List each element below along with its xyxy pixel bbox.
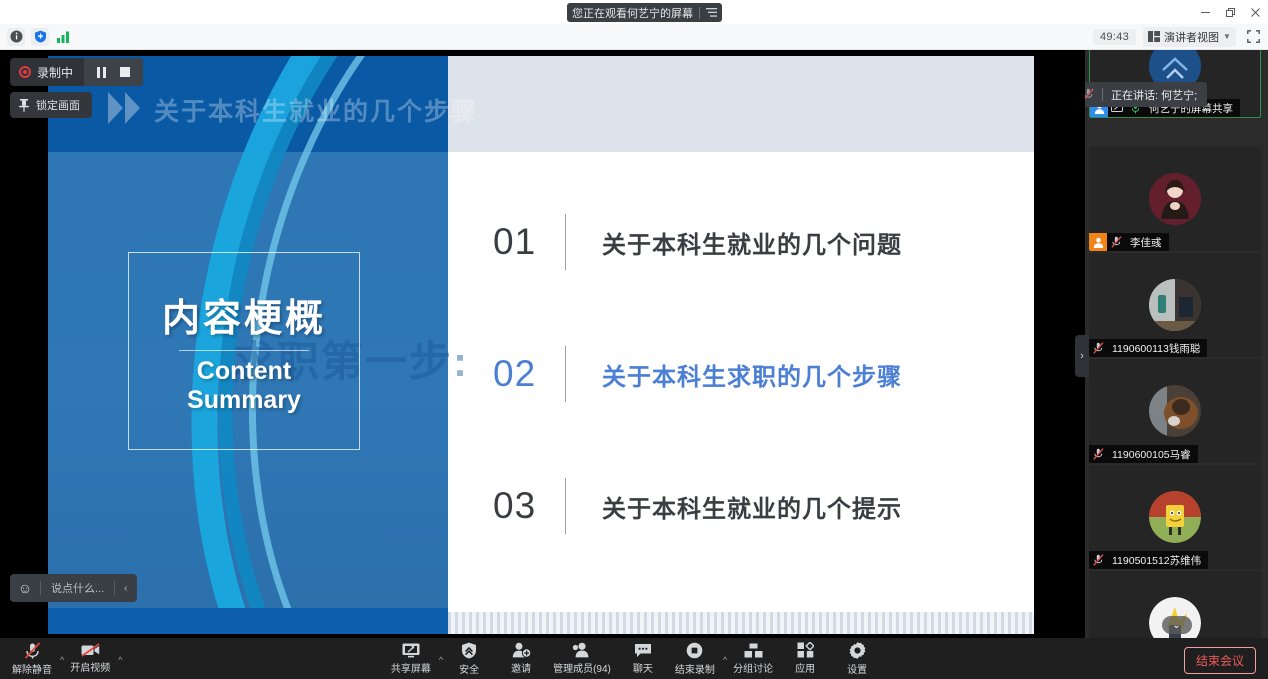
shared-screen-stage: 关于本科生就业的几个步骤 求职第一步: 内容梗概 Content Summary… xyxy=(0,50,1085,638)
agenda-divider xyxy=(565,346,566,402)
slide-bottom-band xyxy=(48,608,448,634)
mic-off-icon xyxy=(1089,551,1107,569)
toast-divider xyxy=(1102,88,1103,101)
share-screen-button[interactable]: 共享屏幕 xyxy=(385,638,437,679)
notice-menu-icon[interactable] xyxy=(706,8,717,17)
agenda-item: 03 关于本科生就业的几个提示 xyxy=(493,440,1013,572)
content-summary-en-2: Summary xyxy=(187,386,301,416)
record-label: 结束录制 xyxy=(675,661,715,676)
chevron-down-icon: ▼ xyxy=(1223,32,1231,41)
recording-buttons xyxy=(84,58,143,86)
slide-header-title: 关于本科生就业的几个步骤 xyxy=(154,92,478,128)
meeting-toolbar: 解除静音 ^ 开启视频 ^ 共享屏幕 ^ xyxy=(0,638,1268,679)
apps-icon xyxy=(797,642,814,658)
stop-recording-button[interactable]: 结束录制 xyxy=(669,638,721,679)
agenda-text: 关于本科生就业的几个提示 xyxy=(602,489,902,524)
signal-bars-icon[interactable] xyxy=(55,28,73,46)
participant-nametag: 1190501512苏维伟 xyxy=(1089,551,1208,569)
person-icon xyxy=(1089,233,1107,251)
view-mode-dropdown[interactable]: 演讲者视图 ▼ xyxy=(1143,27,1236,47)
avatar xyxy=(1149,173,1201,225)
security-label: 安全 xyxy=(459,661,479,676)
participant-nametag: 李佳彧 xyxy=(1089,233,1169,251)
chevron-decoration xyxy=(108,92,140,124)
close-button[interactable] xyxy=(1243,0,1268,24)
info-icon[interactable] xyxy=(7,28,25,46)
chat-bubble-icon xyxy=(634,643,652,658)
chat-collapse-icon[interactable]: ‹ xyxy=(115,583,136,594)
participant-name: 1190600105马睿 xyxy=(1107,447,1191,462)
participant-name: 1190600113钱雨聪 xyxy=(1107,341,1200,356)
record-stop-icon xyxy=(686,642,703,659)
mic-off-icon xyxy=(1089,339,1107,357)
recording-label: 录制中 xyxy=(37,64,73,81)
slide-bottom-stripes xyxy=(448,612,1034,634)
security-shield-icon xyxy=(461,642,477,659)
stop-icon[interactable] xyxy=(120,67,130,77)
content-summary-rule xyxy=(179,350,309,351)
invite-person-icon xyxy=(512,642,531,658)
apps-label: 应用 xyxy=(795,660,815,675)
participants-label: 管理成员(94) xyxy=(553,660,611,675)
scroll-down-icon[interactable]: ⌄ xyxy=(1162,616,1192,634)
participant-tile[interactable]: 李佳彧 xyxy=(1089,147,1261,251)
agenda-divider xyxy=(565,214,566,270)
agenda-text: 关于本科生求职的几个步骤 xyxy=(602,357,902,392)
participant-tile[interactable]: 1190600105马睿 xyxy=(1089,359,1261,463)
content-summary-en-1: Content xyxy=(197,357,291,387)
invite-label: 邀请 xyxy=(511,660,531,675)
manage-participants-button[interactable]: 管理成员(94) xyxy=(547,638,617,679)
record-dot-icon xyxy=(19,66,31,78)
speaking-toast: 正在讲话: 何艺宁; xyxy=(1085,82,1207,107)
share-screen-icon xyxy=(402,643,420,658)
content-summary-cn: 内容梗概 xyxy=(162,287,326,342)
participants-panel: 何艺宁的屏幕共享 正在讲话: 何艺宁; xyxy=(1085,50,1268,638)
participant-tile[interactable]: 1190501512苏维伟 xyxy=(1089,465,1261,569)
collapse-panel-button[interactable]: › xyxy=(1075,335,1089,377)
chat-label: 聊天 xyxy=(633,660,653,675)
speaking-label: 正在讲话: 何艺宁; xyxy=(1111,87,1197,103)
viewing-screen-notice: 您正在观看何艺宁的屏幕 xyxy=(567,3,722,22)
participant-strip[interactable]: 何艺宁的屏幕共享 正在讲话: 何艺宁; xyxy=(1085,50,1268,638)
emoji-icon[interactable]: ☺ xyxy=(10,580,40,596)
pin-screen-button[interactable]: 锁定画面 xyxy=(10,92,92,118)
settings-button[interactable]: 设置 xyxy=(831,638,883,679)
pause-icon[interactable] xyxy=(97,67,106,78)
avatar xyxy=(1149,385,1201,437)
recording-bar: 录制中 xyxy=(10,58,143,86)
agenda-text: 关于本科生就业的几个问题 xyxy=(602,225,902,260)
participant-nametag: 1190600113钱雨聪 xyxy=(1089,339,1207,357)
participant-nametag: 1190600105马睿 xyxy=(1089,445,1198,463)
end-meeting-button[interactable]: 结束会议 xyxy=(1184,647,1256,674)
gear-icon xyxy=(849,642,866,659)
pin-label: 锁定画面 xyxy=(36,97,80,113)
breakout-label: 分组讨论 xyxy=(733,660,773,675)
share-screen-label: 共享屏幕 xyxy=(391,660,431,675)
quick-chat-input[interactable]: ☺ 说点什么... ‹ xyxy=(10,574,137,602)
agenda-divider xyxy=(565,478,566,534)
settings-label: 设置 xyxy=(847,661,867,676)
apps-button[interactable]: 应用 xyxy=(779,638,831,679)
presentation-slide: 关于本科生就业的几个步骤 求职第一步: 内容梗概 Content Summary… xyxy=(48,56,1034,634)
content-summary-box: 内容梗概 Content Summary xyxy=(128,252,360,450)
panel-top-controls: 49:43 演讲者视图 ▼ xyxy=(1085,24,1268,50)
window-controls xyxy=(1193,0,1268,24)
chat-placeholder[interactable]: 说点什么... xyxy=(41,580,114,596)
participant-name: 1190501512苏维伟 xyxy=(1107,553,1201,568)
pin-icon xyxy=(19,99,29,112)
avatar xyxy=(1149,279,1201,331)
agenda-list: 01 关于本科生就业的几个问题 02 关于本科生求职的几个步骤 03 关于本科生… xyxy=(493,176,1013,572)
meeting-window: 您正在观看何艺宁的屏幕 xyxy=(0,0,1268,679)
mic-off-icon xyxy=(1089,445,1107,463)
restore-button[interactable] xyxy=(1218,0,1243,24)
agenda-number: 02 xyxy=(493,353,565,395)
agenda-item: 02 关于本科生求职的几个步骤 xyxy=(493,308,1013,440)
share-sub-toolbar xyxy=(0,24,1085,50)
meeting-timer: 49:43 xyxy=(1093,29,1136,45)
security-button[interactable]: 安全 xyxy=(443,638,495,679)
mic-muted-icon xyxy=(1085,88,1094,101)
mic-off-icon xyxy=(1107,233,1125,251)
participant-tile[interactable]: 1190600113钱雨聪 xyxy=(1089,253,1261,357)
agenda-item: 01 关于本科生就业的几个问题 xyxy=(493,176,1013,308)
agenda-number: 03 xyxy=(493,485,565,527)
breakout-rooms-icon xyxy=(744,643,763,658)
shield-icon[interactable] xyxy=(31,28,49,46)
agenda-number: 01 xyxy=(493,221,565,263)
avatar xyxy=(1149,491,1201,543)
toolbar-center-group: 共享屏幕 ^ 安全 邀请 管理成员(94) xyxy=(0,638,1268,679)
participants-icon xyxy=(572,642,591,658)
chat-button[interactable]: 聊天 xyxy=(617,638,669,679)
viewing-notice-label: 您正在观看何艺宁的屏幕 xyxy=(572,5,693,21)
notice-divider xyxy=(699,7,700,19)
invite-button[interactable]: 邀请 xyxy=(495,638,547,679)
layout-icon xyxy=(1148,31,1160,42)
minimize-button[interactable] xyxy=(1193,0,1218,24)
breakout-rooms-button[interactable]: 分组讨论 xyxy=(727,638,779,679)
title-bar: 您正在观看何艺宁的屏幕 xyxy=(0,0,1268,24)
recording-status: 录制中 xyxy=(10,64,84,81)
view-mode-label: 演讲者视图 xyxy=(1164,29,1219,45)
participant-name: 李佳彧 xyxy=(1125,235,1162,250)
fullscreen-icon[interactable] xyxy=(1247,30,1260,43)
